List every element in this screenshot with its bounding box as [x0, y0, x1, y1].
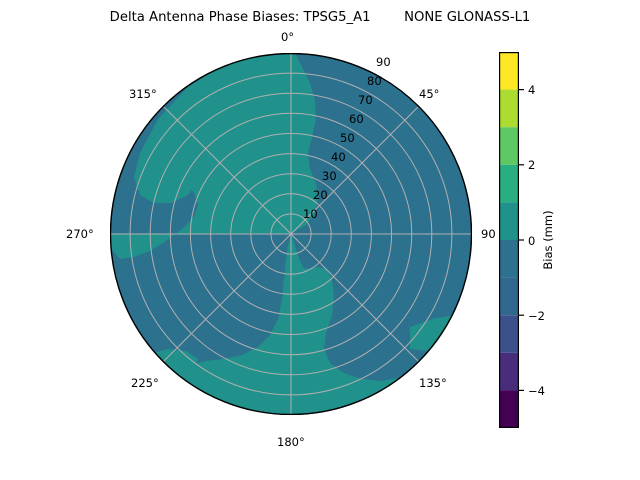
figure-canvas: Delta Antenna Phase Biases: TPSG5_A1 NON… — [0, 0, 640, 480]
colorbar-band-8 — [499, 90, 519, 128]
colorbar-svg — [499, 52, 519, 428]
colorbar-band-2 — [499, 315, 519, 353]
colorbar-tick-label-neg2: −2 — [528, 309, 545, 323]
r-tick-label-40: 40 — [331, 150, 346, 164]
r-tick-label-90: 90 — [376, 55, 391, 69]
colorbar-band-0 — [499, 390, 519, 428]
r-tick-label-20: 20 — [313, 188, 328, 202]
colorbar-bands — [499, 52, 519, 428]
polar-plot-svg — [110, 53, 472, 415]
theta-tick-label-90: 90 — [481, 227, 496, 241]
colorbar-tick-label-2: 2 — [528, 158, 535, 172]
colorbar-band-3 — [499, 278, 519, 316]
theta-tick-label-180: 180° — [277, 435, 305, 449]
r-tick-label-30: 30 — [322, 169, 337, 183]
theta-tick-label-45: 45° — [419, 87, 439, 101]
theta-tick-label-0: 0° — [281, 30, 294, 44]
r-tick-label-10: 10 — [303, 207, 318, 221]
theta-tick-label-225: 225° — [131, 376, 159, 390]
colorbar-band-7 — [499, 127, 519, 165]
colorbar[interactable] — [499, 52, 519, 428]
colorbar-band-4 — [499, 240, 519, 278]
r-tick-label-50: 50 — [340, 131, 355, 145]
colorbar-band-5 — [499, 202, 519, 240]
r-tick-label-80: 80 — [367, 74, 382, 88]
page-title: Delta Antenna Phase Biases: TPSG5_A1 NON… — [0, 10, 640, 25]
polar-axes[interactable]: 10 20 30 40 50 60 70 80 90 — [110, 53, 472, 415]
colorbar-tick-label-neg4: −4 — [528, 384, 545, 398]
colorbar-band-6 — [499, 165, 519, 203]
r-tick-label-60: 60 — [349, 112, 364, 126]
colorbar-tick-label-0: 0 — [528, 234, 535, 248]
colorbar-tick-label-4: 4 — [528, 83, 535, 97]
colorbar-axis-label: Bias (mm) — [541, 210, 555, 269]
colorbar-band-9 — [499, 52, 519, 90]
r-tick-label-70: 70 — [358, 93, 373, 107]
theta-tick-label-315: 315° — [129, 87, 157, 101]
polar-angular-gridlines — [110, 53, 472, 415]
colorbar-band-1 — [499, 353, 519, 391]
theta-tick-label-135: 135° — [419, 376, 447, 390]
theta-tick-label-270: 270° — [66, 227, 94, 241]
